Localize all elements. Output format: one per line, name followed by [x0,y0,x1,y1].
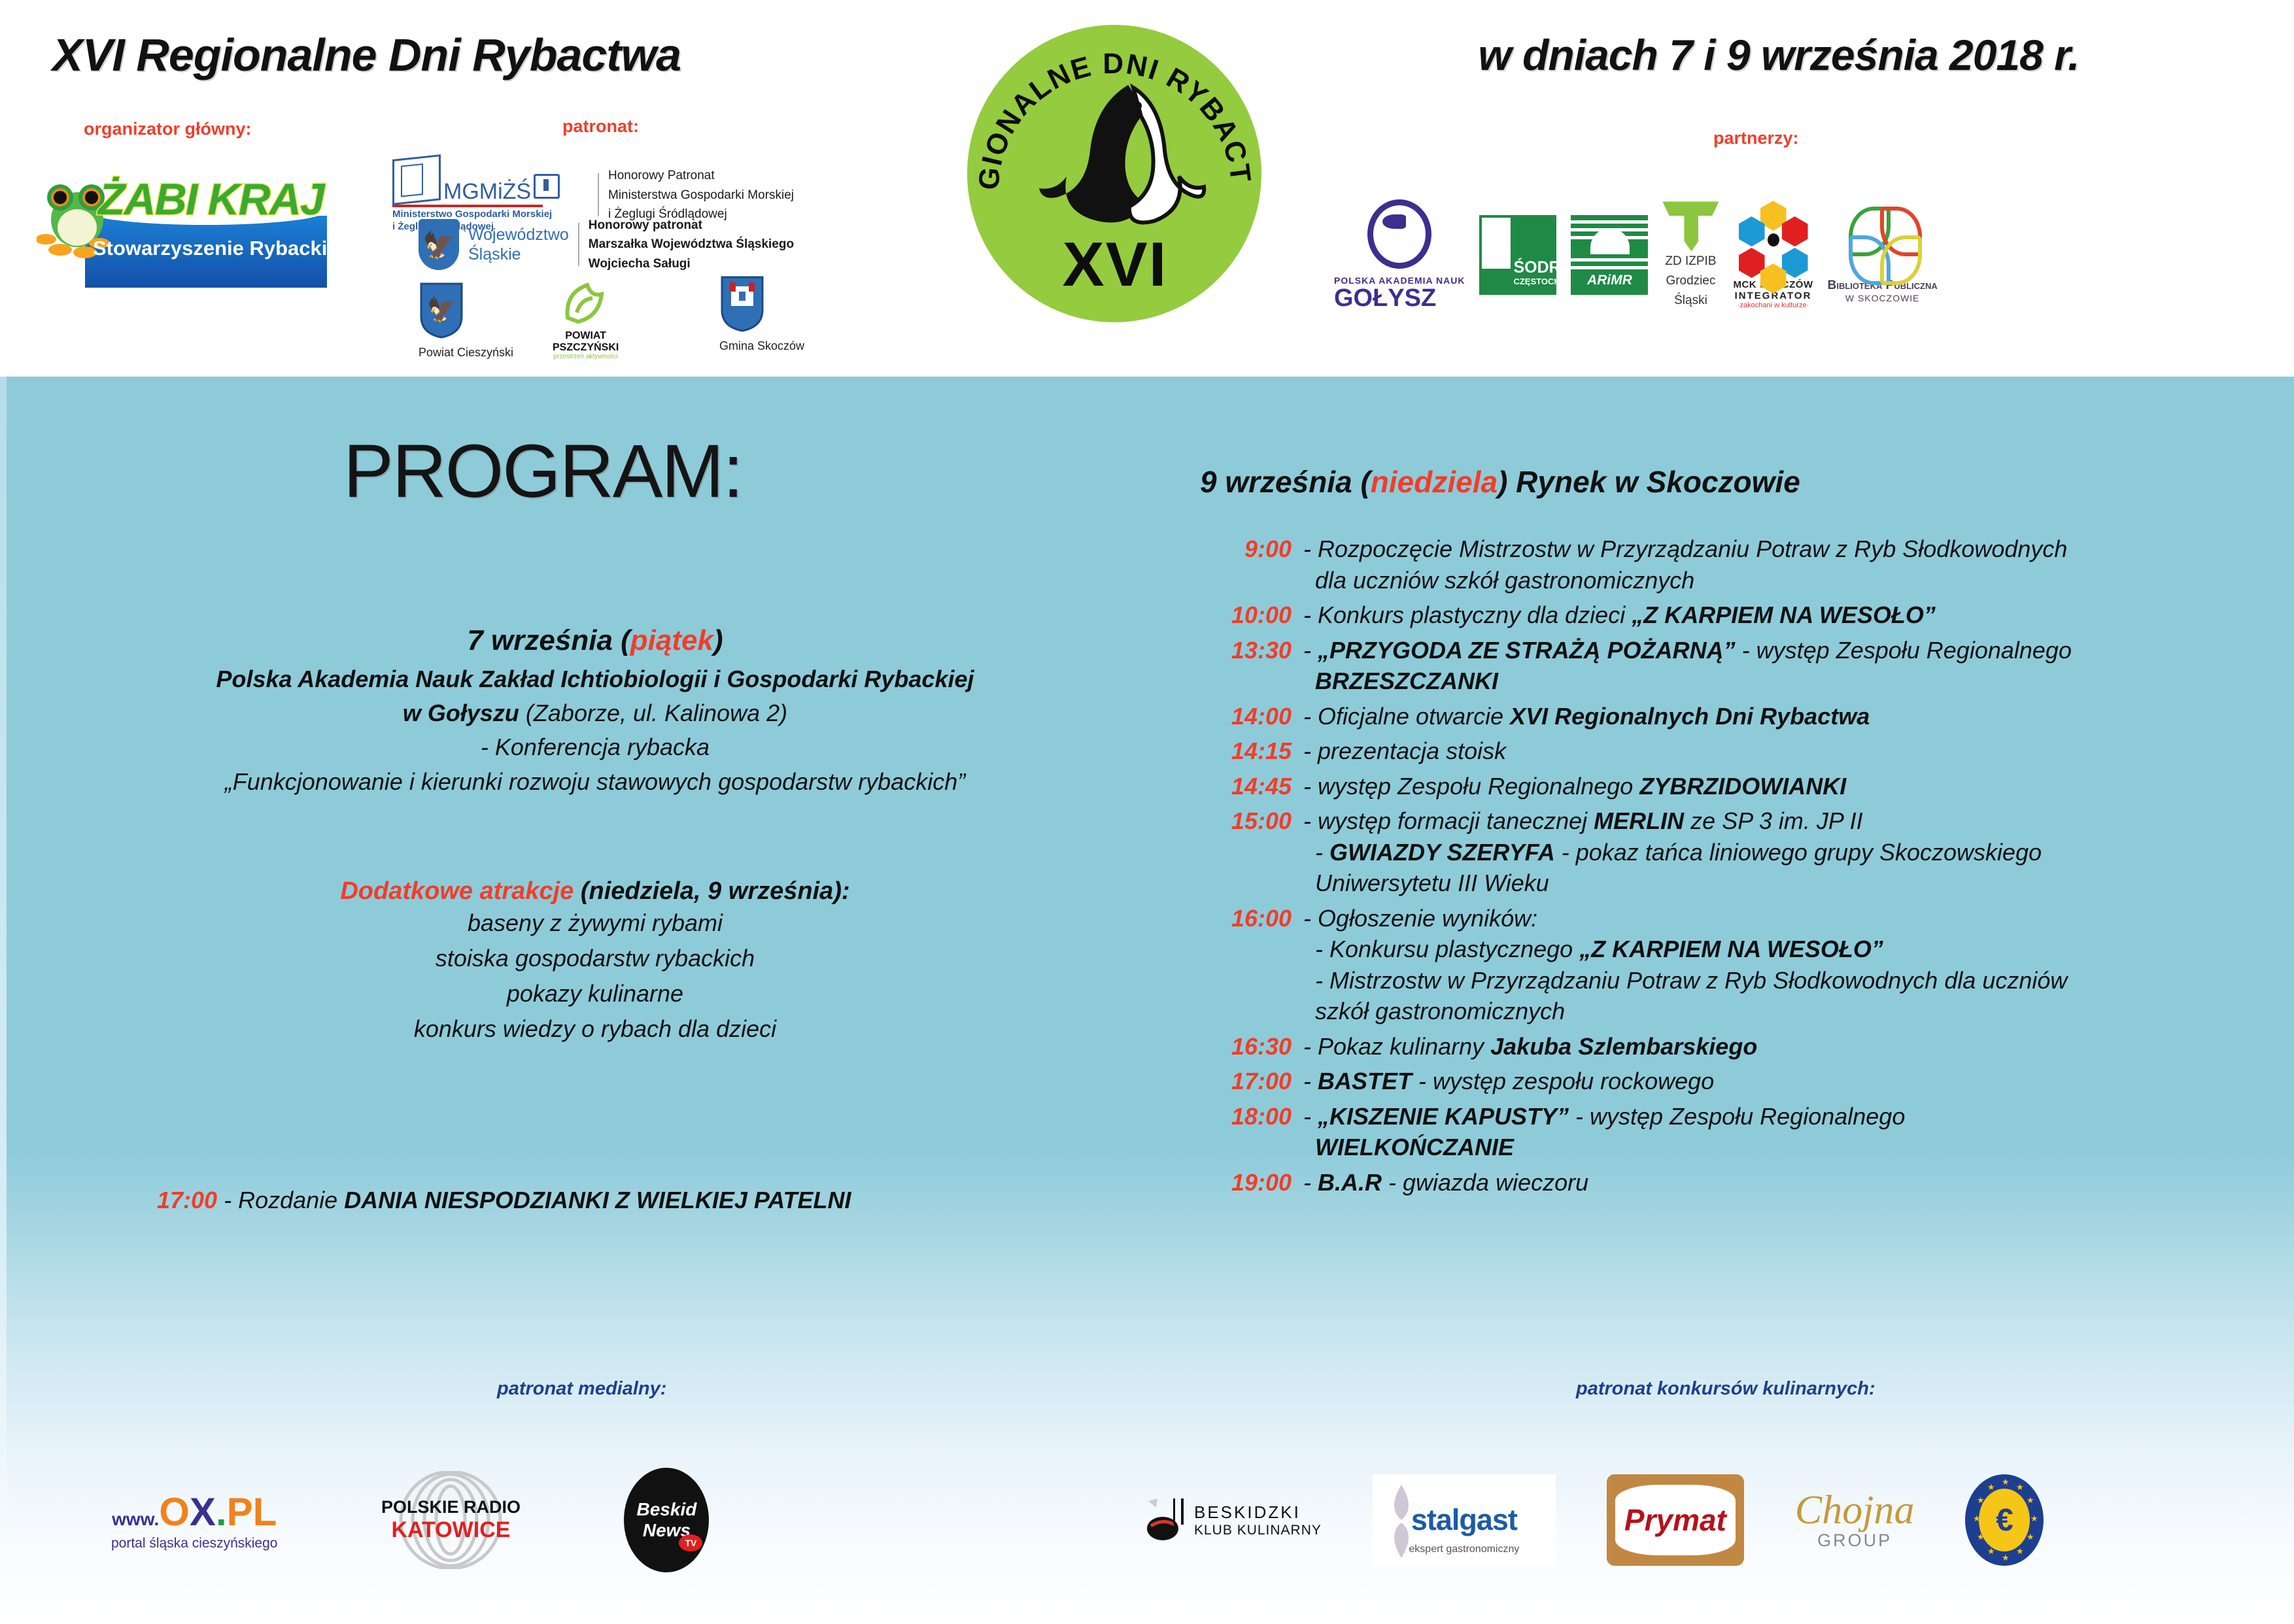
logo-subtitle: Stowarzyszenie Rybackie [93,237,322,260]
schedule-description: - „PRZYGODA ZE STRAŻĄ POŻARNĄ” - występ … [1303,635,2272,697]
extras-item: baseny z żywymi rybami [98,905,1092,941]
schedule-row: 14:15- prezentacja stoisk [1200,736,2272,767]
zd-name-l2: Grodziec [1666,273,1715,289]
schedule-row: 10:00- Konkurs plastyczny dla dzieci „Z … [1200,600,2272,631]
schedule-row: 18:00- „KISZENIE KAPUSTY” - występ Zespo… [1200,1101,2272,1163]
partner-logo-arimr: ARiMR [1571,215,1648,295]
day1-venue-line1: Polska Akademia Nauk Zakład Ichtiobiolog… [98,662,1092,696]
zd-name-l1: ZD IZPIB [1665,254,1716,269]
media-patron-logos: www. O X . PL portal śląska cieszyńskieg… [111,1458,896,1582]
schedule-description-main: - Pokaz kulinarny Jakuba Szlembarskiego [1303,1031,2272,1062]
pszczyna-leaf-icon [561,280,611,326]
schedule-row: 17:00- BASTET - występ zespołu rockowego [1200,1066,2272,1097]
partner-logo-mck-skoczow: MCK SKOCZÓW INTEGRATOR ·zakochani w kult… [1733,201,1813,309]
patron-text-line: Marszałka Województwa Śląskiego [589,235,794,254]
schedule-time: 15:00 [1200,805,1303,837]
oxpl-wordmark: www. O X . PL [112,1489,277,1534]
schedule-description-continuation: BRZESZCZANKI [1315,666,2272,697]
schedule-time: 16:30 [1200,1031,1303,1062]
day1-conference: - Konferencja rybacka [98,730,1092,764]
mgmizs-acronym: MGMiŻŚ [443,180,531,203]
extras-heading-rest: (niedziela, 9 września): [573,877,849,905]
schedule-description: - BASTET - występ zespołu rockowego [1303,1066,2272,1097]
radio-name-l2: KATOWICE [391,1517,510,1543]
crest-caption-l3: przestrzeń aktywności [553,353,619,360]
svg-text:🦅: 🦅 [427,296,456,323]
schedule-row: 16:00- Ogłoszenie wyników:- Konkursu pla… [1200,903,2272,1027]
sodr-book-shape [1482,218,1511,269]
voivodeship-name-l1: Województwo [468,225,569,245]
schedule-description-main: - Oficjalne otwarcie XVI Regionalnych Dn… [1303,701,2272,732]
patron-text-line: Ministerstwa Gospodarki Morskiej [608,186,794,205]
schedule-time: 16:00 [1200,903,1303,934]
chojna-wordmark: Chojna [1795,1490,1915,1531]
bkk-name-l1: BESKIDZKI [1194,1502,1322,1523]
schedule-description-continuation: dla uczniów szkół gastronomicznych [1315,565,2272,596]
oxpl-x: X [190,1489,216,1534]
schedule-time: 9:00 [1200,533,1303,565]
oxpl-www: www. [112,1509,159,1530]
schedule-description-main: - BASTET - występ zespołu rockowego [1303,1066,2272,1097]
golysz-main-line: GOŁYSZ [1334,286,1465,311]
schedule-description: - „KISZENIE KAPUSTY” - występ Zespołu Re… [1303,1101,2272,1163]
svg-text:★: ★ [2016,1482,2024,1492]
stalgast-tagline: ekspert gastronomiczny [1373,1544,1556,1555]
culinary-patronage-heading: patronat konkursów kulinarnych: [1576,1378,1875,1400]
two-fish-icon [1030,78,1207,242]
schedule-time: 18:00 [1200,1101,1303,1132]
poster-title: XVI Regionalne Dni Rybactwa [52,29,902,81]
patron-text-line: Honorowy Patronat [608,166,794,185]
extras-item: konkurs wiedzy o rybach dla dzieci [98,1011,1092,1047]
day1-date-prefix: 7 września ( [467,624,630,656]
schedule-description-main: - „PRZYGODA ZE STRAŻĄ POŻARNĄ” - występ … [1303,635,2272,666]
svg-text:★: ★ [1973,1514,1981,1523]
day1-closing-time: 17:00 [157,1187,217,1213]
schedule-description-main: - Rozpoczęcie Mistrzostw w Przyrządzaniu… [1303,533,2272,565]
patron-text-line: Honorowy patronat [589,216,794,235]
schedule-description: - występ formacji tanecznej MERLIN ze SP… [1303,805,2272,899]
sodr-city: CZĘSTOCHOWA [1513,277,1580,286]
media-logo-beskid-news: Beskid News TV [624,1468,709,1572]
crest-caption: Gmina Skoczów [719,339,804,353]
schedule-description-continuation: - GWIAZDY SZERYFA - pokaz tańca linioweg… [1315,837,2272,868]
schedule-description-main: - Ogłoszenie wyników: [1303,903,2272,934]
svg-text:★: ★ [1987,1546,1995,1556]
oxpl-pl: PL [227,1489,277,1534]
poster-root: XVI Regionalne Dni Rybactwa w dniach 7 i… [0,0,2294,1624]
schedule-description: - Ogłoszenie wyników:- Konkursu plastycz… [1303,903,2272,1027]
day2-schedule: 9:00- Rozpoczęcie Mistrzostw w Przyrządz… [1200,533,2272,1198]
culinary-logo-beskidzki-klub: BESKIDZKI KLUB KULINARNY [1144,1497,1322,1543]
schedule-description: - Oficjalne otwarcie XVI Regionalnych Dn… [1303,701,2272,732]
stalgast-wordmark: stalgast [1411,1503,1517,1537]
day1-venue-rest: (Zaborze, ul. Kalinowa 2) [519,700,787,726]
schedule-description-continuation: - Mistrzostw w Przyrządzaniu Potraw z Ry… [1315,965,2272,996]
schedule-description-main: - B.A.R - gwiazda wieczoru [1303,1167,2272,1198]
fish-wave-icon [1367,199,1431,269]
voivodeship-patron-text: Honorowy patronat Marszałka Województwa … [589,216,794,273]
zd-name-l3: Śląski [1674,293,1707,309]
svg-text:★: ★ [1977,1495,1985,1505]
schedule-description: - prezentacja stoisk [1303,736,2272,767]
day2-heading: 9 września (niedziela) Rynek w Skoczowie [1200,464,2272,499]
label-patronat: patronat: [562,116,639,137]
day2-weekday: niedziela [1371,465,1498,499]
schedule-row: 9:00- Rozpoczęcie Mistrzostw w Przyrządz… [1200,533,2272,596]
program-day1-column: 7 września (piątek) Polska Akademia Nauk… [98,624,1092,1047]
schedule-row: 16:30- Pokaz kulinarny Jakuba Szlembarsk… [1200,1031,2272,1062]
patron-text-line: Wojciecha Saługi [589,254,794,273]
crest-caption-l1: POWIAT [553,330,619,342]
bkk-name-l2: KLUB KULINARNY [1194,1523,1322,1538]
schedule-description: - Rozpoczęcie Mistrzostw w Przyrządzaniu… [1303,533,2272,596]
schedule-description-main: - występ formacji tanecznej MERLIN ze SP… [1303,805,2272,837]
oxpl-dot: . [216,1489,227,1534]
media-patronage-heading: patronat medialny: [497,1378,666,1400]
schedule-description-main: - prezentacja stoisk [1303,736,2272,767]
schedule-row: 14:45- występ Zespołu Regionalnego ZYBRZ… [1200,771,2272,802]
extras-item: stoiska gospodarstw rybackich [98,941,1092,976]
schedule-description-continuation: szkół gastronomicznych [1315,996,2272,1027]
divider [598,173,599,216]
schedule-description-main: - „KISZENIE KAPUSTY” - występ Zespołu Re… [1303,1101,2272,1132]
patron-row-voivodeship: 🦅 Województwo Śląskie Honorowy patronat … [419,216,794,273]
schedule-description-continuation: Uniwersytetu III Wieku [1315,868,2272,899]
crest-caption-l2: PSZCZYŃSKI [553,342,619,354]
svg-text:★: ★ [2030,1514,2038,1523]
silesia-shield-icon: 🦅 [419,219,459,270]
crest-caption: Powiat Cieszyński [419,346,513,360]
beskid-tv-badge: TV [679,1534,702,1551]
partner-logo-zd-izpib: ZD IZPIB Grodziec Śląski [1662,201,1719,308]
eagle-icon: 🦅 [422,233,455,259]
chef-hat-cutlery-icon [1144,1497,1188,1543]
program-day2-column: 9 września (niedziela) Rynek w Skoczowie… [1200,464,2272,1202]
day1-venue-bold: w Gołyszu [403,700,519,726]
skoczow-coat-of-arms-icon [719,275,765,332]
svg-text:★: ★ [2002,1553,2010,1563]
svg-text:★: ★ [2016,1546,2024,1556]
schedule-time: 10:00 [1200,600,1303,631]
arimr-mark-icon: ARiMR [1571,215,1648,295]
partner-logo-biblioteka: Biblioteka Publiczna W SKOCZOWIE [1828,207,1938,303]
radio-name-l1: POLSKIE RADIO [381,1497,521,1517]
day2-head-suffix: ) Rynek w Skoczowie [1498,465,1800,499]
crest-powiat-cieszynski: 🦅 Powiat Cieszyński [419,281,513,360]
schedule-time: 17:00 [1200,1066,1303,1097]
left-edge-strip [0,377,7,1624]
extras-heading: Dodatkowe atrakcje (niedziela, 9 wrześni… [98,877,1092,905]
mgmizs-mark-icon [392,154,441,205]
partner-logo-sodr: ŚODR CZĘSTOCHOWA [1479,215,1556,295]
svg-text:★: ★ [1987,1482,1995,1492]
library-name-l2: W SKOCZOWIE [1845,293,1920,303]
schedule-description-continuation: WIELKOŃCZANIE [1315,1132,2272,1163]
schedule-description: - występ Zespołu Regionalnego ZYBRZIDOWI… [1303,771,2272,802]
arimr-sun-shape [1590,228,1630,254]
schedule-time: 14:00 [1200,701,1303,732]
cieszyn-coat-of-arms-icon: 🦅 [419,281,464,339]
partner-logo-golysz: POLSKA AKADEMIA NAUK GOŁYSZ [1334,199,1465,311]
label-partners: partnerzy: [1713,128,1799,148]
label-organizer: organizator główny: [84,119,252,139]
extras-item: pokazy kulinarne [98,976,1092,1011]
badge-edition: XVI [951,229,1278,301]
oxpl-tagline: portal śląska cieszyńskiego [111,1536,277,1551]
day1-venue-line2: w Gołyszu (Zaborze, ul. Kalinowa 2) [98,696,1092,730]
schedule-row: 13:30- „PRZYGODA ZE STRAŻĄ POŻARNĄ” - wy… [1200,635,2272,697]
schedule-row: 15:00- występ formacji tanecznej MERLIN … [1200,805,2272,899]
crest-gmina-skoczow: Gmina Skoczów [719,275,804,353]
chojna-group-label: GROUP [1817,1531,1892,1551]
oxpl-o: O [159,1489,190,1534]
day1-conference-topic: „Funkcjonowanie i kierunki rozwoju stawo… [98,765,1092,799]
prymat-wordmark: Prymat [1624,1502,1726,1538]
divider [578,223,579,266]
day1-date-line: 7 września (piątek) [98,624,1092,657]
schedule-row: 14:00- Oficjalne otwarcie XVI Regionalny… [1200,701,2272,732]
schedule-time: 14:15 [1200,736,1303,767]
culinary-logo-chojna-group: Chojna GROUP [1795,1490,1915,1551]
beskid-name-l1: Beskid [637,1499,697,1520]
svg-text:★: ★ [2027,1495,2034,1505]
culinary-logo-prymat: Prymat [1607,1474,1744,1566]
svg-text:★: ★ [1977,1532,1985,1542]
day1-closing-event: 17:00 - Rozdanie DANIA NIESPODZIANKI Z W… [157,1187,851,1214]
event-logo-badge: REGIONALNE DNI RYBACTWA XVI [951,13,1278,340]
schedule-description: - Pokaz kulinarny Jakuba Szlembarskiego [1303,1031,2272,1062]
schedule-description-continuation: - Konkursu plastycznego „Z KARPIEM NA WE… [1315,934,2272,965]
day2-head-prefix: 9 września ( [1200,465,1371,499]
event-dates: w dniach 7 i 9 września 2018 r. [1327,30,2230,80]
schedule-time: 14:45 [1200,771,1303,802]
media-logo-oxpl: www. O X . PL portal śląska cieszyńskieg… [111,1489,277,1551]
partner-logos: POLSKA AKADEMIA NAUK GOŁYSZ ŚODR CZĘSTOC… [1334,190,2269,320]
program-heading: PROGRAM: [343,428,742,515]
logo-name: ŻABI KRAJ [98,174,327,225]
media-logo-polskie-radio-katowice: POLSKIE RADIO KATOWICE [375,1471,526,1569]
schedule-description: - B.A.R - gwiazda wieczoru [1303,1167,2272,1198]
day1-date-suffix: ) [713,624,723,656]
voivodeship-name-l2: Śląskie [468,245,569,264]
culinary-logo-stalgast: stalgast ekspert gastronomiczny [1373,1474,1556,1566]
schedule-description-main: - występ Zespołu Regionalnego ZYBRZIDOWI… [1303,771,2272,802]
mck-name-l3: ·zakochani w kulturze· [1738,301,1809,309]
library-petals-icon [1846,207,1919,279]
arimr-acronym: ARiMR [1571,273,1648,288]
day1-closing-prefix: - Rozdanie [217,1187,344,1213]
schedule-description: - Konkurs plastyczny dla dzieci „Z KARPI… [1303,600,2272,631]
mgmizs-rule [392,205,543,207]
day1-weekday: piątek [630,624,713,656]
crest-powiat-pszczynski: POWIAT PSZCZYŃSKI przestrzeń aktywności [553,280,619,360]
day1-closing-bold: DANIA NIESPODZIANKI Z WIELKIEJ PATELNI [344,1187,851,1213]
ship-icon [534,174,560,199]
svg-text:★: ★ [2002,1477,2010,1487]
sodr-mark-icon: ŚODR CZĘSTOCHOWA [1479,215,1556,295]
organizer-logo-zabi-kraj: ŻABI KRAJ Stowarzyszenie Rybackie [33,160,327,289]
extras-heading-red: Dodatkowe atrakcje [340,877,573,905]
svg-text:★: ★ [2027,1532,2034,1542]
schedule-row: 19:00- B.A.R - gwiazda wieczoru [1200,1167,2272,1198]
hexagon-flower-icon [1739,201,1808,279]
schedule-time: 13:30 [1200,635,1303,666]
culinary-logo-euro-toques: ★★★ ★★ ★★ ★★ ★★★ € [1965,1474,2044,1566]
sodr-acronym: ŚODR [1513,258,1560,277]
schedule-time: 19:00 [1200,1167,1303,1198]
eu-stars-icon: ★★★ ★★ ★★ ★★ ★★★ [1965,1474,2044,1566]
zd-mark-icon [1662,201,1719,250]
prymat-inner: Prymat [1615,1485,1736,1555]
culinary-patron-logos: BESKIDZKI KLUB KULINARNY stalgast eksper… [1144,1458,2256,1582]
schedule-description-main: - Konkurs plastyczny dla dzieci „Z KARPI… [1303,600,2272,631]
